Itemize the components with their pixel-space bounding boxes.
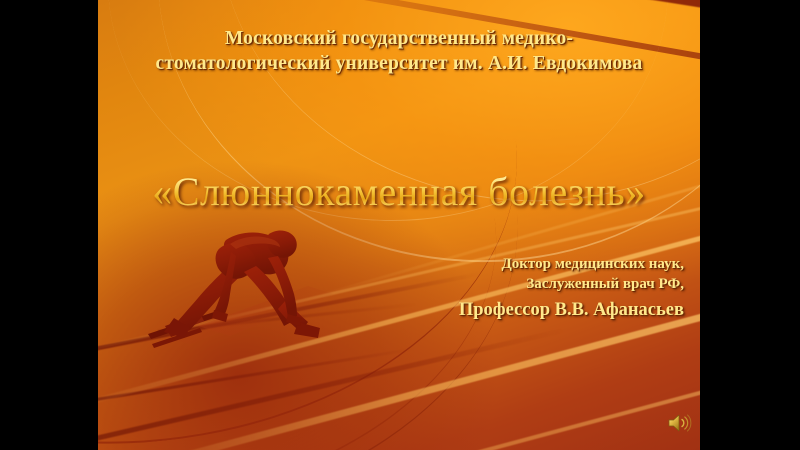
speaker-icon[interactable] [667, 411, 693, 435]
institution-heading: Московский государственный медико- стома… [98, 26, 700, 77]
letterbox-right [700, 0, 800, 450]
letterbox-left [0, 0, 98, 450]
author-line-3: Профессор В.В. Афанасьев [264, 299, 684, 322]
institution-line-2: стоматологический университет им. А.И. Е… [98, 51, 700, 76]
author-credits: Доктор медицинских наук, Заслуженный вра… [264, 255, 684, 321]
slide-canvas: Московский государственный медико- стома… [98, 0, 700, 450]
slide-title-text: «Слюннокаменная болезнь» [152, 168, 645, 215]
presentation-screen: Московский государственный медико- стома… [0, 0, 800, 450]
institution-line-1: Московский государственный медико- [98, 26, 700, 51]
author-line-1: Доктор медицинских наук, [264, 255, 684, 273]
background-streak-dark-3 [98, 328, 566, 445]
author-line-2: Заслуженный врач РФ, [264, 275, 684, 293]
background-streak-light-3 [217, 354, 700, 450]
background-streak-dark-2 [98, 348, 414, 407]
slide-title: «Слюннокаменная болезнь» [98, 168, 700, 215]
